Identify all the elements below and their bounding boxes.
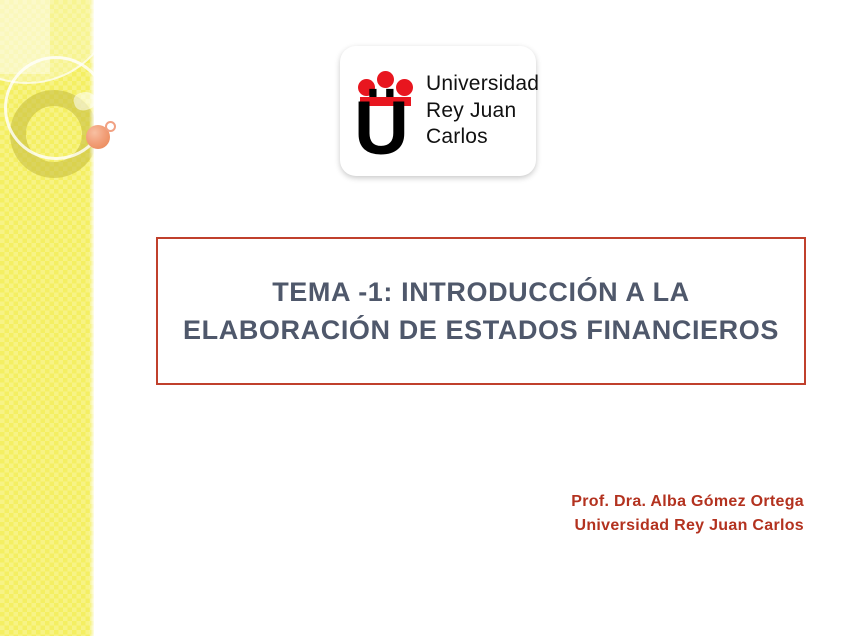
- title-slide: Ü Universidad Rey Juan Carlos TEMA -1: I…: [0, 0, 848, 636]
- author-name: Prof. Dra. Alba Gómez Ortega: [571, 490, 804, 514]
- logo-name-line-1: Universidad: [426, 71, 539, 97]
- author-block: Prof. Dra. Alba Gómez Ortega Universidad…: [571, 490, 804, 538]
- logo-letter-u: Ü: [354, 99, 407, 159]
- title-box: TEMA -1: INTRODUCCIÓN A LA ELABORACIÓN D…: [156, 237, 806, 385]
- sidebar-edge-fade: [89, 0, 94, 636]
- university-logo: Ü Universidad Rey Juan Carlos: [340, 46, 536, 176]
- author-affiliation: Universidad Rey Juan Carlos: [571, 514, 804, 538]
- small-orange-ring-shape: [105, 121, 116, 132]
- slide-title: TEMA -1: INTRODUCCIÓN A LA ELABORACIÓN D…: [158, 273, 804, 349]
- logo-name-line-2: Rey Juan Carlos: [426, 98, 539, 151]
- urjc-logo-mark: Ü: [354, 63, 416, 159]
- decorative-sidebar: [0, 0, 94, 636]
- logo-wordmark: Universidad Rey Juan Carlos: [426, 71, 539, 150]
